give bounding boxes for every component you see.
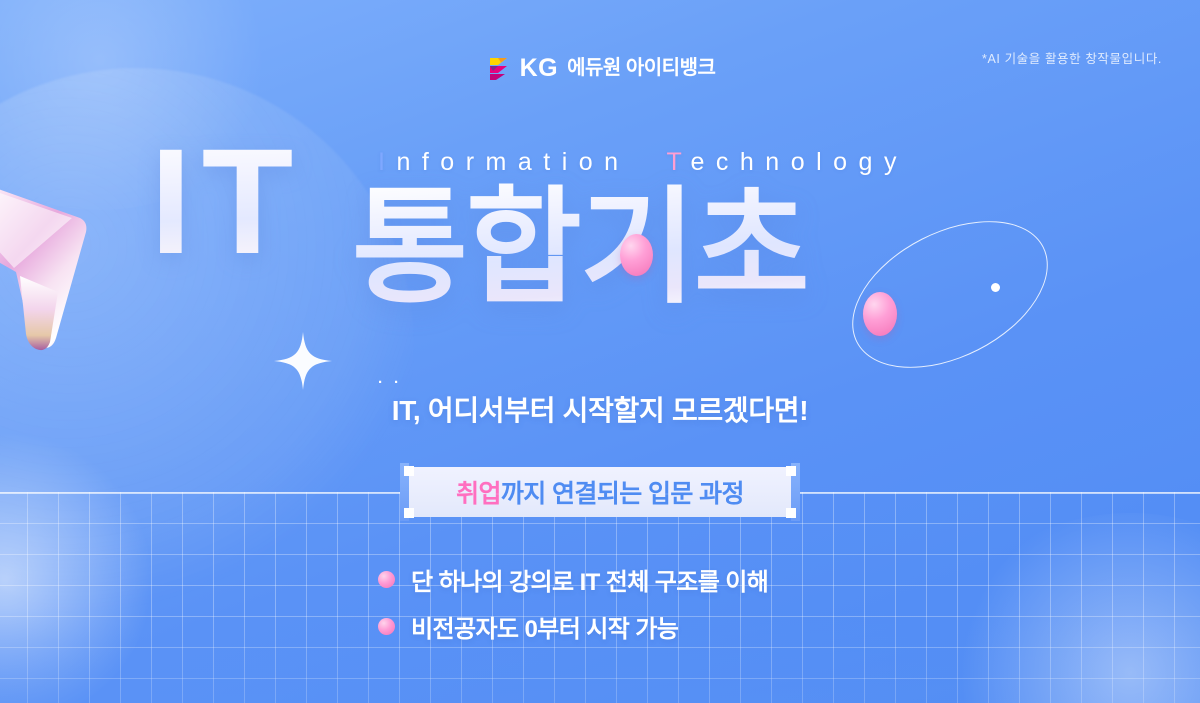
list-item: 단 하나의 강의로 IT 전체 구조를 이해: [378, 556, 768, 603]
orbit-dot: [991, 283, 1000, 292]
bullet-dot-icon: [378, 618, 395, 635]
hero-eyebrow: Information Technology: [378, 148, 908, 177]
subtitle-row: ·· IT, 어디서부터 시작할지 모르겠다면!: [0, 389, 1200, 429]
subtitle-emphasis-dots: ··: [378, 375, 410, 390]
list-item-label: 비전공자도 0부터 시작 가능: [411, 609, 678, 644]
eyebrow-information: nformation: [396, 148, 629, 176]
badge-text: 취업까지 연결되는 입문 과정: [456, 474, 744, 510]
eyebrow-technology: echnology: [690, 148, 907, 176]
hero-headline-kr: 통합기초: [352, 182, 808, 314]
feature-list: 단 하나의 강의로 IT 전체 구조를 이해 비전공자도 0부터 시작 가능: [378, 556, 768, 650]
badge-corner-bottom-left: [404, 508, 414, 518]
badge-corner-bottom-right: [786, 508, 796, 518]
list-item: 비전공자도 0부터 시작 가능: [378, 603, 768, 650]
hero-it-mark: IT: [150, 126, 303, 276]
pink-sphere-upper: [620, 234, 653, 276]
brand-kg-text: KG: [520, 56, 559, 81]
subtitle-text: IT, 어디서부터 시작할지 모르겠다면!: [392, 389, 809, 429]
sparkle-star-icon: [272, 330, 334, 392]
cursor-arrow-3d-icon: [0, 152, 117, 367]
promo-banner: KG 에듀원 아이티뱅크 *AI 기술을 활용한 창작물입니다. IT Info…: [0, 0, 1200, 703]
badge-box: 취업까지 연결되는 입문 과정: [409, 467, 791, 517]
ai-disclaimer-text: *AI 기술을 활용한 창작물입니다.: [982, 48, 1162, 67]
badge-highlight: 취업: [456, 480, 501, 508]
orbit-ring-decor: [828, 191, 1072, 398]
pink-sphere-lower: [863, 292, 897, 336]
kg-ribbon-logo-icon: [485, 55, 511, 81]
brand-name-text: 에듀원 아이티뱅크: [567, 58, 715, 78]
badge-corner-top-right: [786, 466, 796, 476]
eyebrow-space: [630, 148, 667, 176]
badge-rest: 까지 연결되는 입문 과정: [501, 480, 744, 508]
list-item-label: 단 하나의 강의로 IT 전체 구조를 이해: [411, 562, 768, 597]
bullet-dot-icon: [378, 571, 395, 588]
course-badge: 취업까지 연결되는 입문 과정: [400, 463, 800, 521]
eyebrow-t-accent: T: [666, 148, 690, 176]
badge-corner-top-left: [404, 466, 414, 476]
eyebrow-i-accent: I: [378, 148, 396, 176]
